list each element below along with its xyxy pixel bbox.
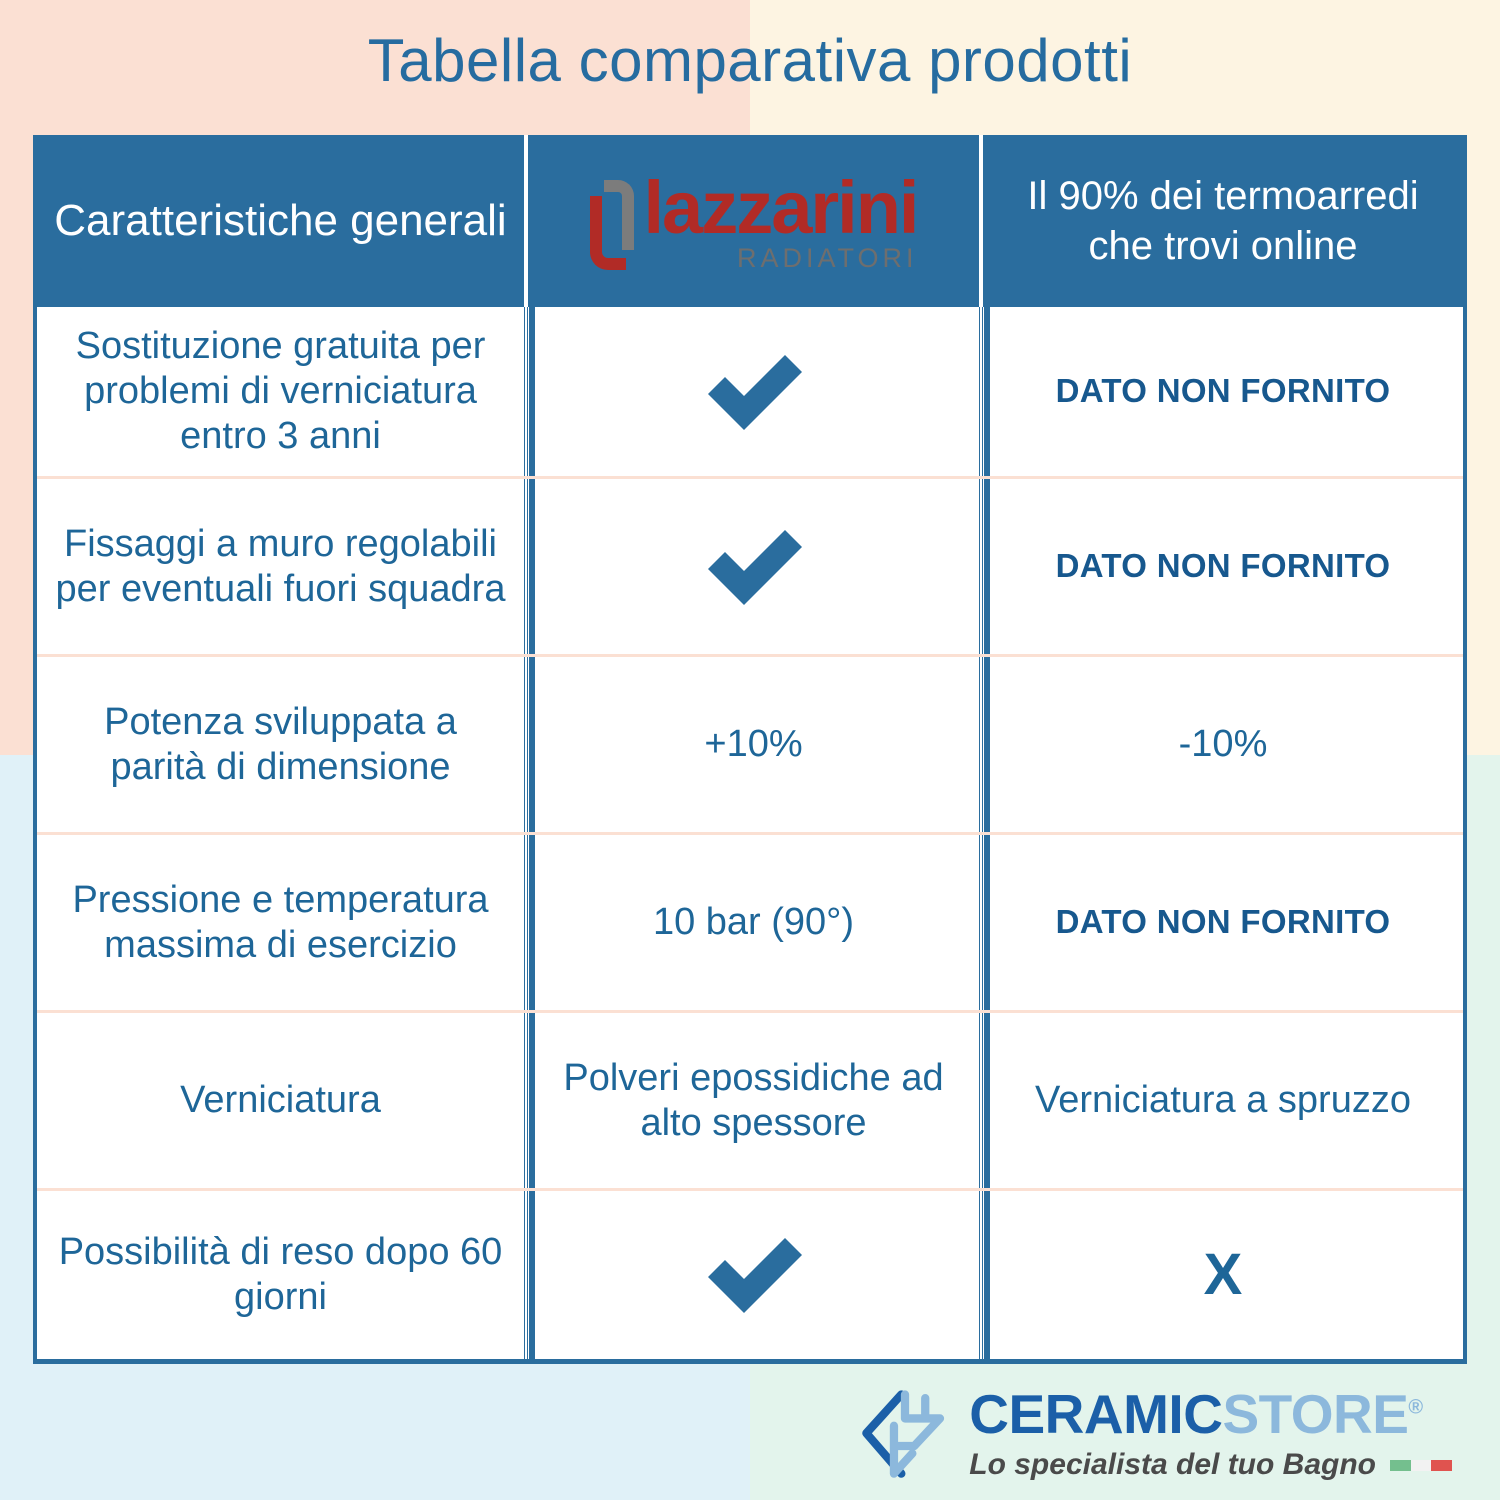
no-data-label: DATO NON FORNITO xyxy=(1056,372,1391,411)
table-row: Potenza sviluppata a parità di dimension… xyxy=(37,657,1463,835)
lazzarini-logo: lazzarini RADIATORI xyxy=(590,174,918,271)
column-header-features: Caratteristiche generali xyxy=(37,135,528,307)
lazzarini-value-cell xyxy=(528,1191,983,1359)
competitor-value-cell: DATO NON FORNITO xyxy=(983,307,1463,476)
competitor-value-cell: DATO NON FORNITO xyxy=(983,479,1463,654)
table-header-row: Caratteristiche generali lazzarini RADIA… xyxy=(37,135,1463,307)
lazzarini-value-cell: 10 bar (90°) xyxy=(528,835,983,1010)
competitor-value-cell: DATO NON FORNITO xyxy=(983,835,1463,1010)
lazzarini-value-cell: Polveri epossidiche ad alto spessore xyxy=(528,1013,983,1188)
lazzarini-value-cell: +10% xyxy=(528,657,983,832)
table-body: Sostituzione gratuita per problemi di ve… xyxy=(37,307,1463,1359)
lazzarini-value-cell xyxy=(528,307,983,476)
table-row: Fissaggi a muro regolabili per eventuali… xyxy=(37,479,1463,657)
feature-cell: Possibilità di reso dopo 60 giorni xyxy=(37,1191,528,1359)
table-row: VerniciaturaPolveri epossidiche ad alto … xyxy=(37,1013,1463,1191)
column-header-lazzarini: lazzarini RADIATORI xyxy=(528,135,983,307)
value-label: Verniciatura a spruzzo xyxy=(1035,1078,1411,1123)
feature-cell: Potenza sviluppata a parità di dimension… xyxy=(37,657,528,832)
competitor-value-cell: X xyxy=(983,1191,1463,1359)
ceramicstore-wordmark: CERAMICSTORE® xyxy=(969,1387,1452,1442)
feature-cell: Sostituzione gratuita per problemi di ve… xyxy=(37,307,528,476)
table-row: Pressione e temperatura massima di eserc… xyxy=(37,835,1463,1013)
page-title: Tabella comparativa prodotti xyxy=(0,28,1500,94)
lazzarini-mark-icon xyxy=(590,180,634,272)
registered-trademark-icon: ® xyxy=(1408,1397,1422,1419)
page-content: Tabella comparativa prodotti Caratterist… xyxy=(0,0,1500,1500)
ceramicstore-mark-icon xyxy=(859,1389,951,1481)
checkmark-icon xyxy=(700,524,808,610)
ceramicstore-logo[interactable]: CERAMICSTORE® Lo specialista del tuo Bag… xyxy=(859,1387,1452,1482)
checkmark-icon xyxy=(700,349,808,435)
feature-cell: Verniciatura xyxy=(37,1013,528,1188)
value-label: -10% xyxy=(1179,722,1268,767)
feature-cell: Pressione e temperatura massima di eserc… xyxy=(37,835,528,1010)
table-row: Sostituzione gratuita per problemi di ve… xyxy=(37,307,1463,479)
ceramicstore-word-primary: CERAMIC xyxy=(969,1383,1222,1445)
no-data-label: DATO NON FORNITO xyxy=(1056,547,1391,586)
checkmark-icon xyxy=(700,1232,808,1318)
ceramicstore-tagline: Lo specialista del tuo Bagno xyxy=(969,1448,1376,1482)
italian-flag-icon xyxy=(1390,1460,1452,1471)
table-row: Possibilità di reso dopo 60 giorniX xyxy=(37,1191,1463,1359)
no-data-label: DATO NON FORNITO xyxy=(1056,903,1391,942)
competitor-value-cell: -10% xyxy=(983,657,1463,832)
lazzarini-wordmark: lazzarini xyxy=(644,174,918,242)
competitor-value-cell: Verniciatura a spruzzo xyxy=(983,1013,1463,1188)
cross-icon: X xyxy=(1204,1246,1243,1304)
feature-cell: Fissaggi a muro regolabili per eventuali… xyxy=(37,479,528,654)
ceramicstore-word-secondary: STORE xyxy=(1222,1383,1408,1445)
lazzarini-value-cell xyxy=(528,479,983,654)
comparison-table: Caratteristiche generali lazzarini RADIA… xyxy=(33,135,1467,1364)
column-header-competitors: Il 90% dei termoarredi che trovi online xyxy=(983,135,1463,307)
